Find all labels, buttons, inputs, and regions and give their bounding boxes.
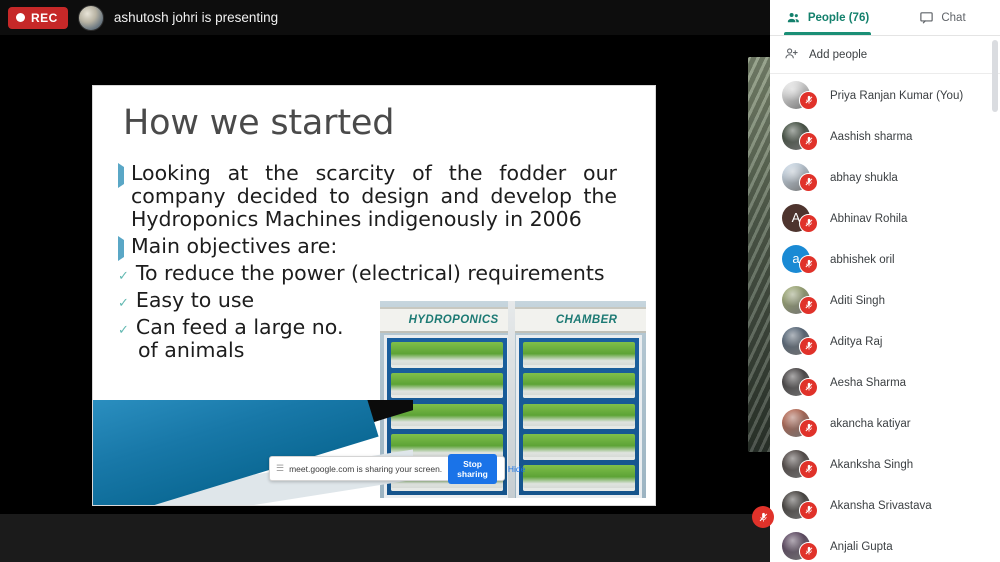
avatar-wrapper: A xyxy=(782,204,822,234)
bullet-text: To reduce the power (electrical) require… xyxy=(136,262,605,285)
bullet-text: Can feed a large no. xyxy=(136,316,344,339)
avatar-wrapper xyxy=(782,409,822,439)
participant-name: abhishek oril xyxy=(830,254,895,266)
participant-name: Abhinav Rohila xyxy=(830,213,907,225)
mic-off-icon xyxy=(799,337,818,356)
add-person-icon xyxy=(784,46,799,64)
recording-badge[interactable]: REC xyxy=(8,7,68,29)
mic-off-icon xyxy=(799,255,818,274)
mic-off-icon xyxy=(799,419,818,438)
participant-name: Aashish sharma xyxy=(830,131,912,143)
slide-title: How we started xyxy=(123,103,394,143)
avatar-wrapper xyxy=(782,286,822,316)
fodder-rack-right xyxy=(516,335,642,498)
participant-name: Priya Ranjan Kumar (You) xyxy=(830,90,963,102)
mic-off-icon xyxy=(799,501,818,520)
participant-row[interactable]: Aesha Sharma xyxy=(770,362,1000,403)
recording-label: REC xyxy=(31,11,58,25)
participant-row[interactable]: Aditi Singh xyxy=(770,280,1000,321)
participant-row[interactable]: Akansha Srivastava xyxy=(770,485,1000,526)
participant-row[interactable]: Priya Ranjan Kumar (You) xyxy=(770,75,1000,116)
stage-bottom-strip xyxy=(0,514,770,562)
mic-off-icon xyxy=(799,542,818,561)
record-dot-icon xyxy=(16,13,25,22)
avatar-wrapper xyxy=(782,491,822,521)
bullet-item: ✓ To reduce the power (electrical) requi… xyxy=(118,262,648,285)
avatar-wrapper xyxy=(782,81,822,111)
shared-slide: How we started Looking at the scarcity o… xyxy=(93,86,655,505)
sign-text-right: CHAMBER xyxy=(556,314,618,326)
presenting-status-text: ashutosh johri is presenting xyxy=(114,10,278,25)
sharing-message: meet.google.com is sharing your screen. xyxy=(289,464,442,474)
participant-name: Aditi Singh xyxy=(830,295,885,307)
participant-row[interactable]: akancha katiyar xyxy=(770,403,1000,444)
participant-row[interactable]: Akanksha Singh xyxy=(770,444,1000,485)
participant-row[interactable]: Aashish sharma xyxy=(770,116,1000,157)
avatar-wrapper: a xyxy=(782,245,822,275)
participant-name: akancha katiyar xyxy=(830,418,911,430)
bullet-item: Main objectives are: xyxy=(118,235,648,258)
top-bar: REC ashutosh johri is presenting xyxy=(0,0,770,35)
avatar-wrapper xyxy=(782,163,822,193)
screen-sharing-bar: ☰ meet.google.com is sharing your screen… xyxy=(269,456,505,481)
avatar-wrapper xyxy=(782,327,822,357)
participant-row[interactable]: Aditya Raj xyxy=(770,321,1000,362)
participant-name: Anjali Gupta xyxy=(830,541,893,553)
participant-list[interactable]: Priya Ranjan Kumar (You)Aashish sharmaab… xyxy=(770,75,1000,562)
participant-name: Aditya Raj xyxy=(830,336,882,348)
mic-off-icon xyxy=(799,91,818,110)
bullet-text: Easy to use xyxy=(136,289,254,312)
stop-sharing-button[interactable]: Stop sharing xyxy=(448,454,497,484)
tab-chat-label: Chat xyxy=(941,12,965,24)
presenter-avatar xyxy=(78,5,104,31)
panel-tab-bar: People (76) Chat xyxy=(770,0,1000,36)
check-bullet-icon: ✓ xyxy=(118,316,129,338)
mic-off-icon xyxy=(799,296,818,315)
bullet-text: of animals xyxy=(118,339,244,362)
bullet-text: Main objectives are: xyxy=(131,235,337,258)
panel-scrollbar-track[interactable] xyxy=(992,40,998,558)
participant-name: Aesha Sharma xyxy=(830,377,906,389)
mic-off-icon xyxy=(799,460,818,479)
participant-name: Akansha Srivastava xyxy=(830,500,932,512)
avatar-wrapper xyxy=(782,368,822,398)
people-icon xyxy=(786,10,801,25)
tile-mic-off-icon xyxy=(752,506,774,528)
triangle-bullet-icon xyxy=(118,235,124,257)
video-feed xyxy=(748,57,772,452)
slide-decoration xyxy=(93,400,413,505)
tab-people[interactable]: People (76) xyxy=(770,0,885,35)
bullet-item: Looking at the scarcity of the fodder ou… xyxy=(118,162,648,231)
participant-row[interactable]: Anjali Gupta xyxy=(770,526,1000,562)
avatar-wrapper xyxy=(782,450,822,480)
triangle-bullet-icon xyxy=(118,162,124,184)
add-people-button[interactable]: Add people xyxy=(770,36,1000,74)
mic-off-icon xyxy=(799,214,818,233)
avatar-wrapper xyxy=(782,122,822,152)
drag-handle-icon[interactable]: ☰ xyxy=(276,463,283,474)
sign-text-left: HYDROPONICS xyxy=(409,314,499,326)
participant-name: abhay shukla xyxy=(830,172,898,184)
check-bullet-icon: ✓ xyxy=(118,262,129,284)
participant-row[interactable]: AAbhinav Rohila xyxy=(770,198,1000,239)
participant-row[interactable]: abhay shukla xyxy=(770,157,1000,198)
bullet-text: Looking at the scarcity of the fodder ou… xyxy=(131,162,617,231)
tab-people-label: People (76) xyxy=(808,12,869,24)
check-bullet-icon: ✓ xyxy=(118,289,129,311)
hide-sharing-bar-link[interactable]: Hide xyxy=(503,464,530,474)
self-video-tile[interactable] xyxy=(748,57,772,452)
meet-window: REC ashutosh johri is presenting How we … xyxy=(0,0,1000,562)
side-panel: People (76) Chat Add pe xyxy=(770,0,1000,562)
chat-icon xyxy=(919,10,934,25)
panel-scrollbar-thumb[interactable] xyxy=(992,40,998,112)
mic-off-icon xyxy=(799,378,818,397)
mic-off-icon xyxy=(799,132,818,151)
participant-row[interactable]: aabhishek oril xyxy=(770,239,1000,280)
avatar-wrapper xyxy=(782,532,822,562)
presentation-stage: REC ashutosh johri is presenting How we … xyxy=(0,0,770,562)
participant-name: Akanksha Singh xyxy=(830,459,913,471)
add-people-label: Add people xyxy=(809,49,867,61)
tab-chat[interactable]: Chat xyxy=(885,0,1000,35)
mic-off-icon xyxy=(799,173,818,192)
